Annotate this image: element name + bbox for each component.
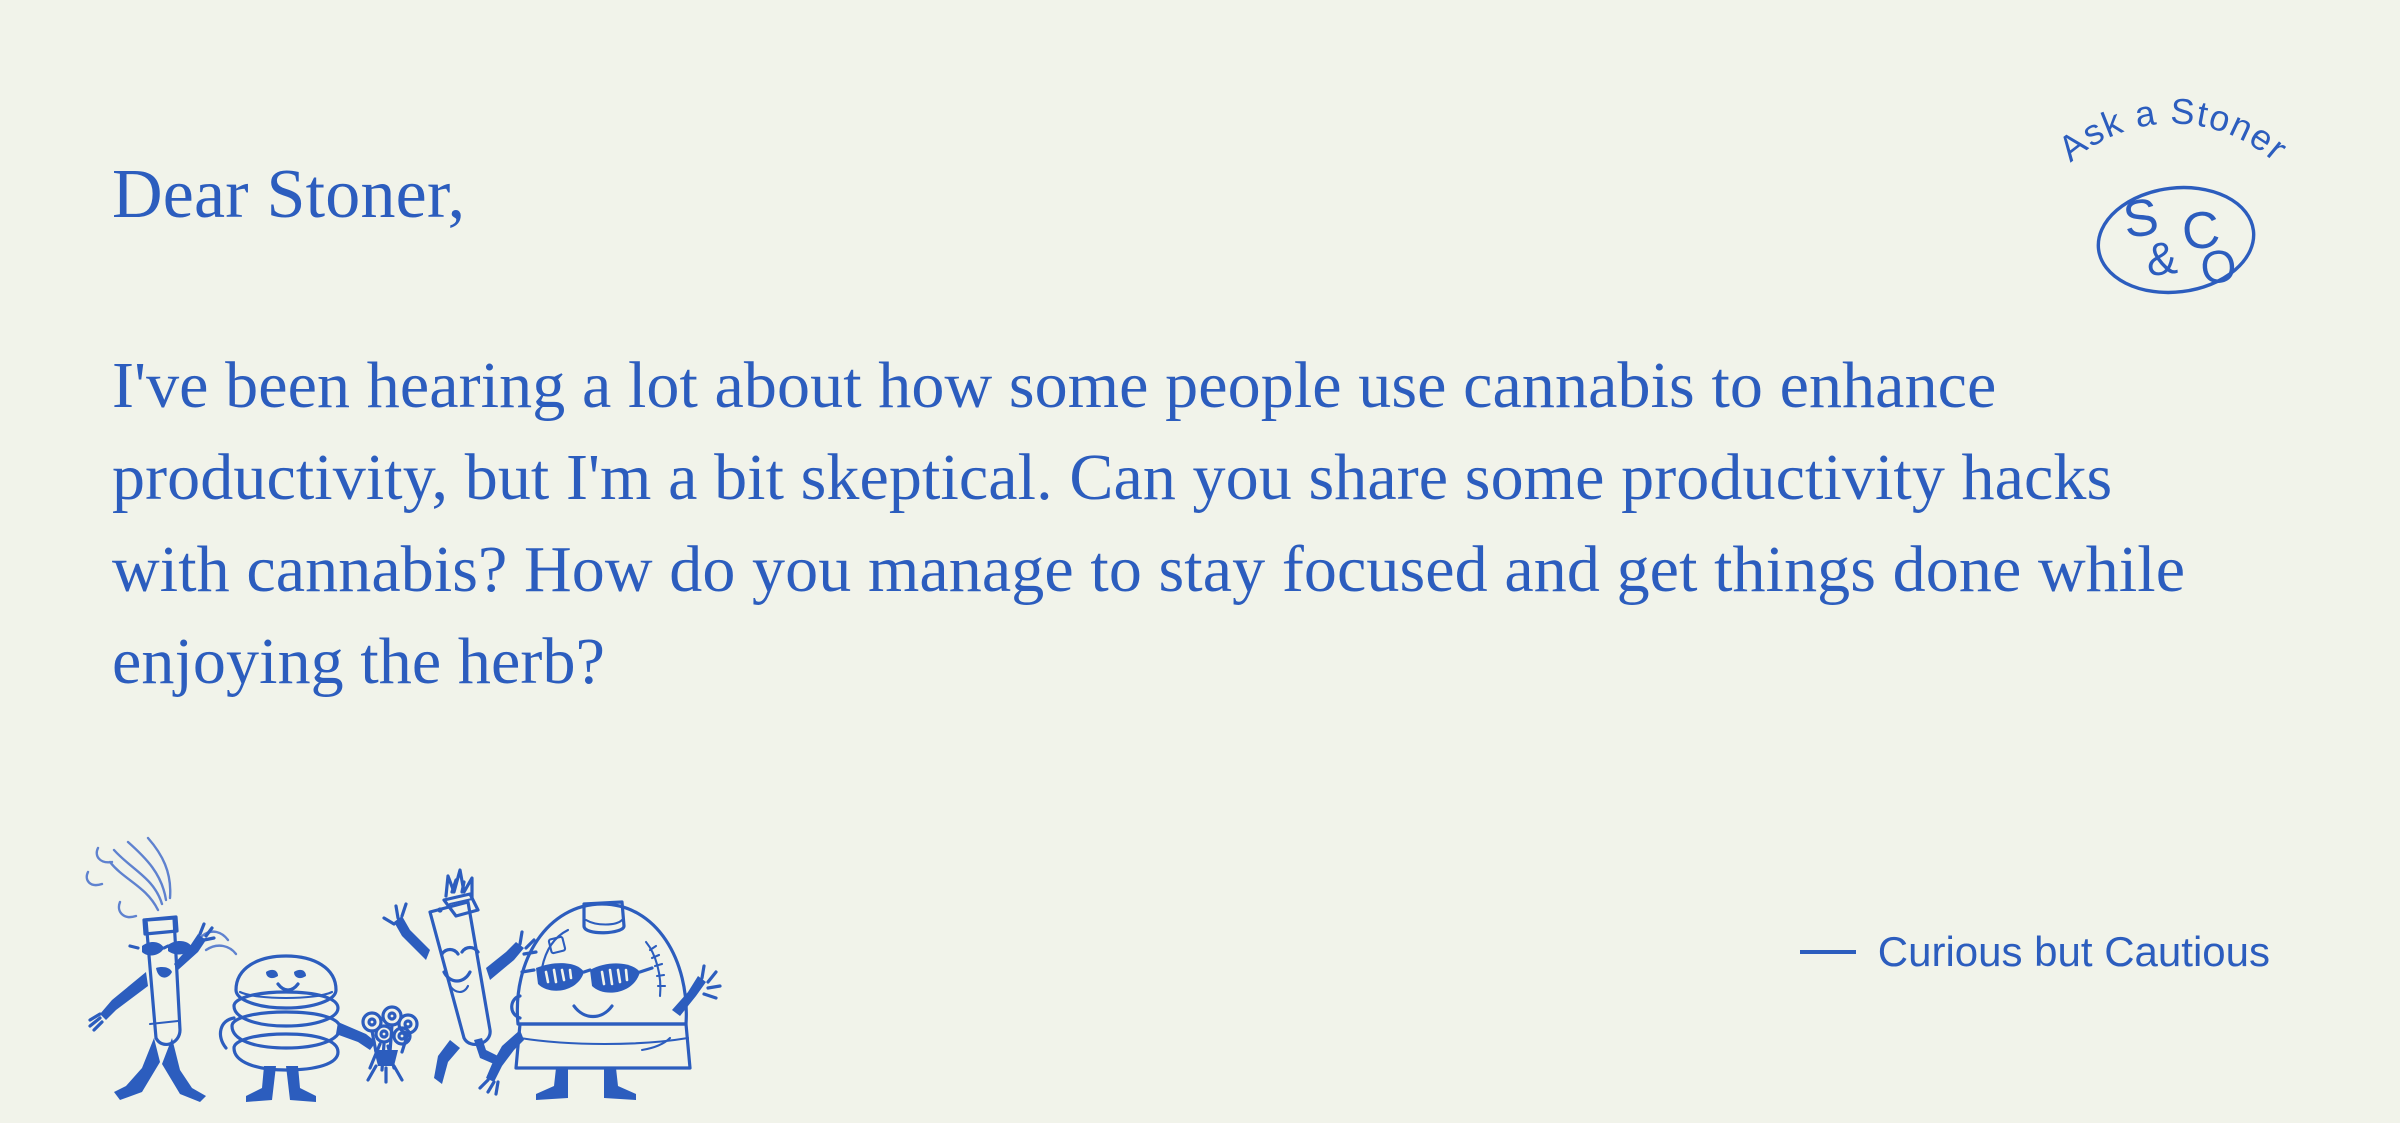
letter-salutation: Dear Stoner, (112, 160, 465, 230)
lighter-right-hand (520, 932, 536, 954)
lighter-left-leg (434, 1040, 460, 1084)
joint-sunglasses-icon (130, 941, 192, 955)
brand-badge[interactable]: Ask a Stoner S & C O (2008, 62, 2338, 312)
lighter-rivet (437, 907, 442, 912)
signature-name: Curious but Cautious (1878, 928, 2270, 976)
grinder-left-leg (536, 1068, 568, 1100)
lighter-right-arm (486, 942, 524, 980)
joint-right-leg (162, 1038, 206, 1102)
smoke-plume-icon (87, 838, 170, 917)
edible-left-eye (266, 970, 278, 978)
lighter-character (384, 870, 536, 1084)
grinder-sunglasses-icon (522, 963, 652, 993)
edible-right-eye (294, 970, 306, 978)
grinder-base (516, 1024, 690, 1068)
smoking-joint-character (87, 838, 236, 1102)
edible-top-layer (236, 956, 336, 1008)
lighter-right-eye (462, 948, 478, 953)
lighter-left-eye (442, 950, 458, 955)
joint-left-hand (90, 1014, 102, 1030)
letter-page: Dear Stoner, I've been hearing a lot abo… (0, 0, 2400, 1123)
edible-layer-3 (232, 1012, 340, 1048)
joint-left-leg (114, 1038, 160, 1100)
signature-dash-rule (1800, 950, 1856, 954)
edible-layer-4 (234, 1034, 338, 1070)
grinder-left-hand (480, 1080, 498, 1094)
grinder-character (480, 902, 720, 1100)
edible-left-leg (246, 1066, 276, 1102)
lighter-body (430, 902, 490, 1044)
grinder-mouth (574, 1006, 612, 1017)
joint-mouth (156, 967, 172, 978)
letter-body-text: I've been hearing a lot about how some p… (112, 340, 2192, 708)
monogram-letter-o: O (2198, 239, 2238, 294)
edible-right-leg (286, 1066, 316, 1102)
edible-right-arm (336, 1022, 376, 1050)
letter-signature: Curious but Cautious (1800, 928, 2270, 976)
monogram-letter-amp: & (2144, 231, 2180, 286)
joint-left-arm (100, 972, 148, 1020)
brand-arc-text: Ask a Stoner (2050, 90, 2296, 169)
grinder-right-arm (672, 976, 706, 1016)
grinder-right-leg (604, 1068, 636, 1100)
grinder-base-mark (642, 1038, 670, 1050)
joint-body (146, 918, 180, 1044)
edible-mouth (278, 984, 298, 990)
lighter-left-arm (394, 916, 430, 960)
mascot-illustration (50, 800, 690, 1100)
stacked-edible-character (220, 956, 417, 1102)
